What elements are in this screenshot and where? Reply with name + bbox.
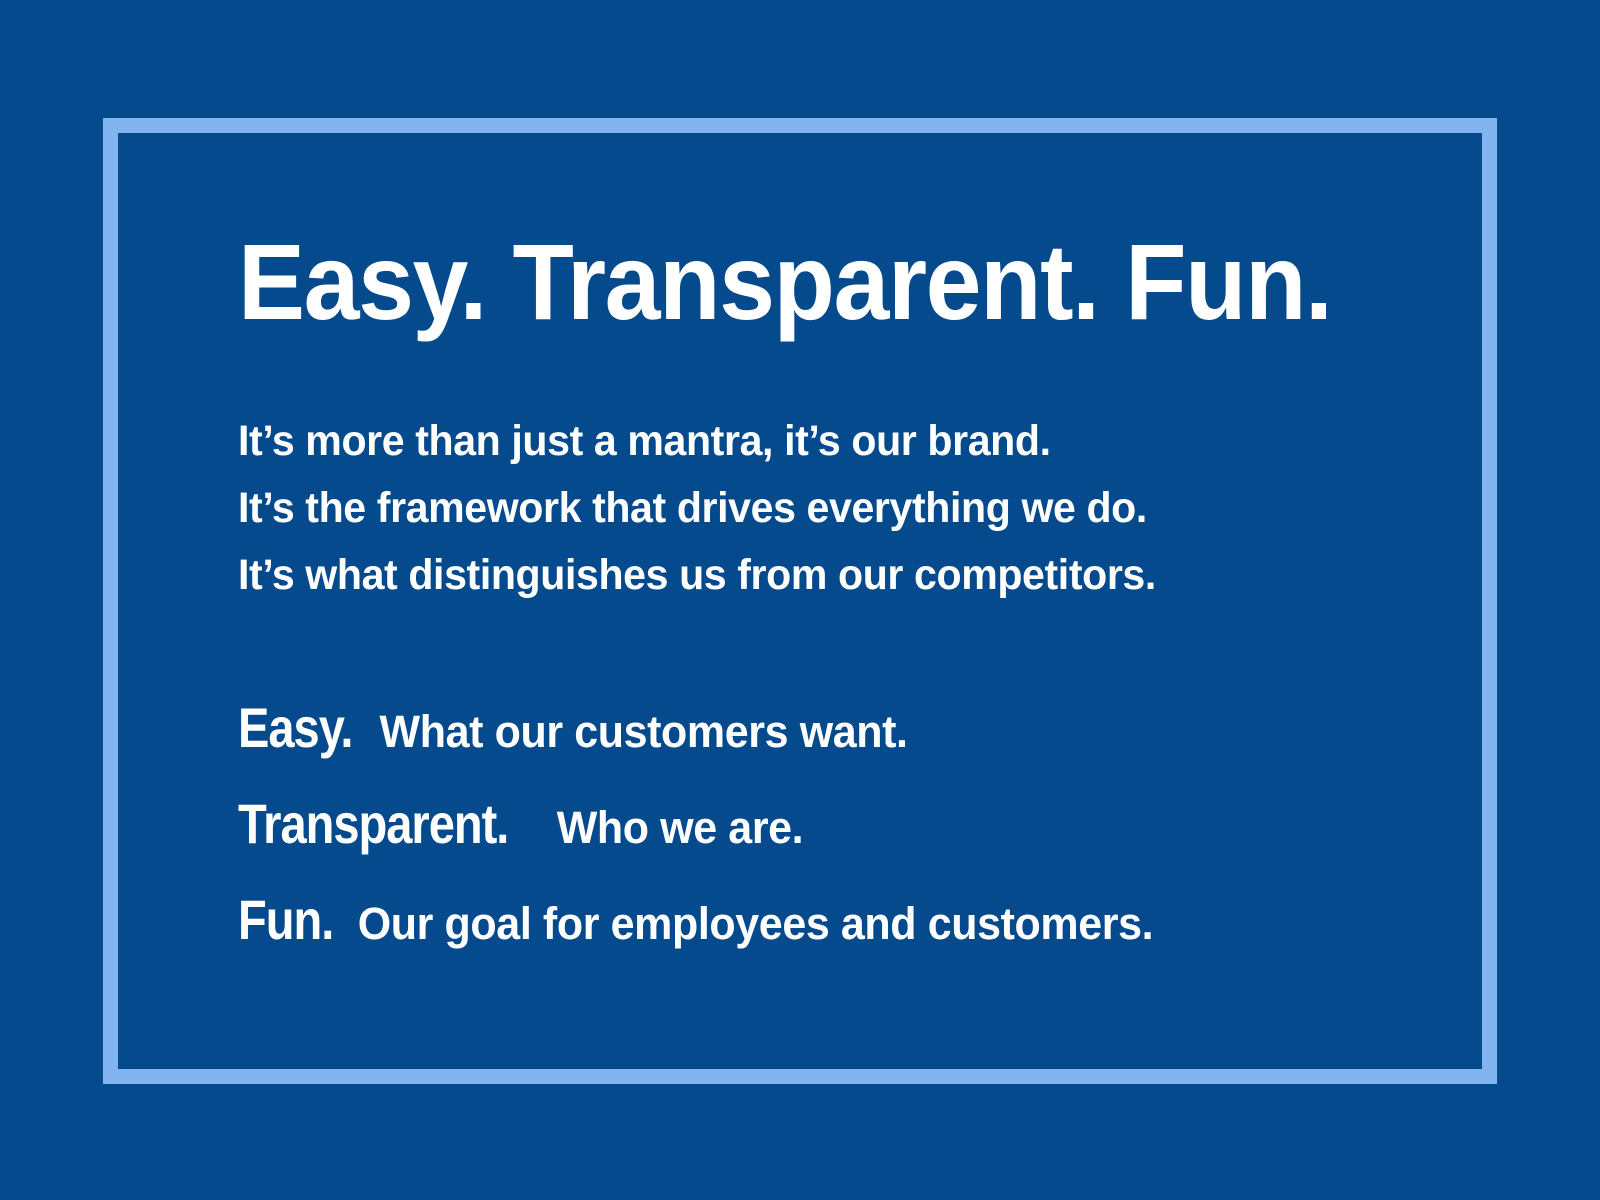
mantra-line: It’s the framework that drives everythin… [238,475,1365,542]
pillar-description-transparent: Who we are. [557,802,804,853]
pillar-term-transparent: Transparent. [238,783,508,864]
pillar-description-easy: What our customers want. [380,706,908,757]
mantra-paragraph: It’s more than just a mantra, it’s our b… [238,408,1418,609]
mantra-line: It’s more than just a mantra, it’s our b… [238,408,1365,475]
pillars-list: Easy.What our customers want. Transparen… [238,687,1418,975]
page-title: Easy. Transparent. Fun. [238,228,1335,336]
pillar-term-easy: Easy. [238,687,352,768]
pillar-term-fun: Fun. [238,879,333,960]
slide-content: Easy. Transparent. Fun. It’s more than j… [238,228,1418,975]
mantra-line: It’s what distinguishes us from our comp… [238,542,1365,609]
list-item: Transparent.Who we are. [238,783,1365,879]
list-item: Easy.What our customers want. [238,687,1365,783]
list-item: Fun.Our goal for employees and customers… [238,879,1365,975]
brand-mantra-slide: Easy. Transparent. Fun. It’s more than j… [0,0,1600,1200]
pillar-description-fun: Our goal for employees and customers. [358,898,1153,949]
